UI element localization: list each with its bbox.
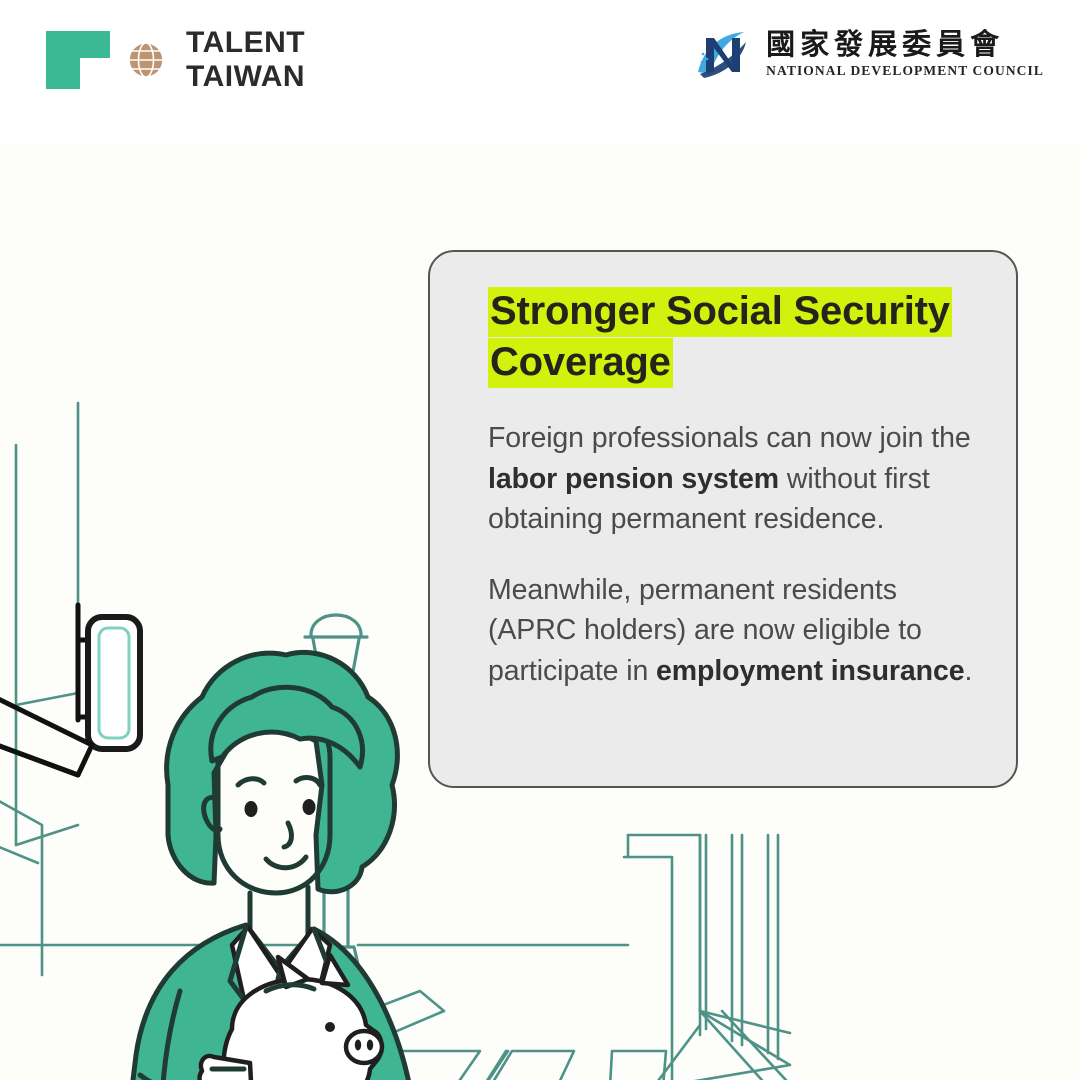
ndc-wordmark: 國家發展委員會 NATIONAL DEVELOPMENT COUNCIL: [766, 29, 1044, 79]
poster-root: TALENT TAIWAN 國家發展委員會 NATIONAL DEVELOPME…: [0, 0, 1080, 1080]
talent-taiwan-wordmark: TALENT TAIWAN: [186, 26, 305, 93]
paragraph-2: Meanwhile, permanent residents (APRC hol…: [488, 570, 990, 691]
header-bar: TALENT TAIWAN 國家發展委員會 NATIONAL DEVELOPME…: [0, 0, 1080, 145]
ndc-chinese-name: 國家發展委員會: [766, 29, 1004, 60]
panel-title: Stronger Social SecurityCoverage: [488, 286, 990, 388]
title-line-2: Coverage: [488, 338, 673, 388]
logo-line-1: TALENT: [186, 26, 305, 60]
p2-part2: .: [964, 655, 972, 687]
talent-taiwan-flag-mark: [44, 28, 112, 92]
ndc-logo[interactable]: 國家發展委員會 NATIONAL DEVELOPMENT COUNCIL: [694, 26, 1044, 82]
p1-bold-labor-pension: labor pension system: [488, 463, 779, 495]
logo-line-2: TAIWAN: [186, 60, 305, 94]
ndc-english-name: NATIONAL DEVELOPMENT COUNCIL: [766, 63, 1044, 79]
talent-taiwan-logo[interactable]: TALENT TAIWAN: [44, 26, 305, 93]
ndc-n-swoosh-mark: [694, 26, 756, 82]
panel-content: Stronger Social SecurityCoverage Foreign…: [488, 286, 990, 691]
p2-bold-employment-insurance: employment insurance: [656, 655, 964, 687]
traffic-signal-box: [78, 605, 140, 749]
p1-part1: Foreign professionals can now join the: [488, 422, 971, 454]
paragraph-1: Foreign professionals can now join the l…: [488, 418, 990, 539]
globe-icon: [126, 40, 166, 80]
title-line-1: Stronger Social Security: [488, 287, 952, 337]
info-panel: Stronger Social SecurityCoverage Foreign…: [428, 250, 1018, 788]
